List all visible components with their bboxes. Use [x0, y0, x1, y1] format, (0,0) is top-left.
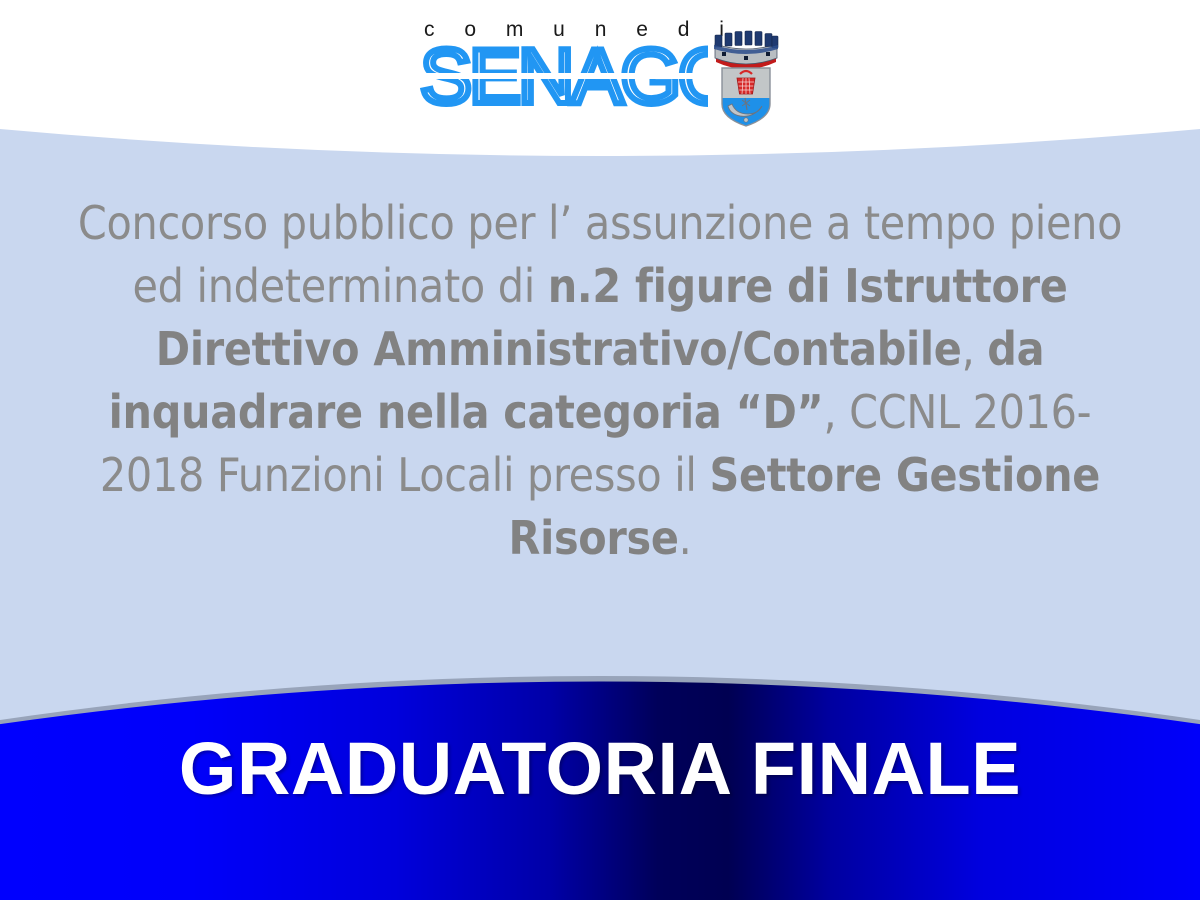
banner-title: GRADUATORIA FINALE	[0, 726, 1200, 811]
announcement-text: Concorso pubblico per l’ assunzione a te…	[60, 192, 1140, 570]
header: c o m u n e d i SENAGO	[0, 0, 1200, 132]
announcement-part-7: .	[679, 511, 692, 565]
announcement-part-3: ,	[962, 322, 988, 376]
poster-root: c o m u n e d i SENAGO	[0, 0, 1200, 900]
mural-crown-icon	[714, 31, 778, 69]
svg-text:SENAGO: SENAGO	[420, 33, 708, 113]
site-logo[interactable]: c o m u n e d i SENAGO	[418, 16, 782, 130]
senago-coat-of-arms-icon	[710, 18, 782, 130]
logo-text-block: c o m u n e d i SENAGO	[418, 16, 708, 128]
logo-wordmark-senago: SENAGO	[418, 33, 708, 113]
shield-icon	[720, 66, 774, 130]
